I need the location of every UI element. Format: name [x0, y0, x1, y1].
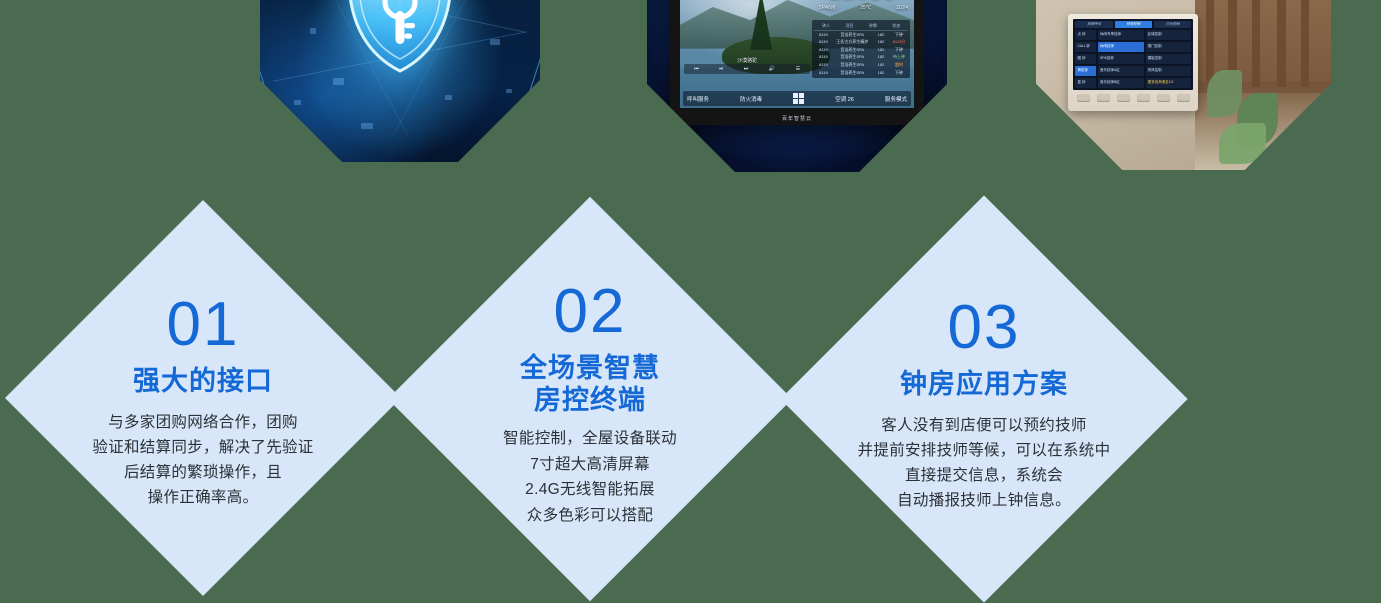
table-row[interactable]: 8119 王氏古方养生精护 182 8115分	[814, 38, 908, 46]
col-tech: 钟人	[814, 22, 837, 30]
panel-option[interactable]: 推门控制	[1146, 42, 1192, 53]
media-volume-icon[interactable]: 🔊	[769, 66, 775, 72]
cell-status: 下钟	[890, 69, 908, 77]
col-card: 钟牌	[861, 22, 884, 30]
dock-call-service[interactable]: 呼叫服务	[687, 94, 709, 102]
media-prev-icon[interactable]: ⏮	[694, 66, 699, 72]
table-row[interactable]: 8119 音浴养生SPA 182 下钟	[814, 69, 908, 77]
cell-card: 182	[872, 61, 890, 69]
cell-tech: 8119	[814, 38, 832, 46]
panel-key[interactable]	[1157, 94, 1170, 102]
image-diamond-tech	[202, 0, 598, 220]
feature-card-01[interactable]: 01 强大的接口 与多家团购网络合作，团购 验证和结算同步，解决了先验证 后结算…	[5, 200, 401, 596]
shield-lock-icon	[325, 0, 475, 89]
panel-option[interactable]: 音乐技师B区	[1098, 78, 1144, 89]
panel-key[interactable]	[1077, 94, 1090, 102]
image-diamond-tablet: CHIBO 沙漠骆驼 ⏮ ⏯ ⏭ 🔊	[585, 0, 1009, 234]
clock-meta: SPA6房 25℃ 11/24	[816, 4, 910, 11]
panel-option-more[interactable]: 更多技师请至1/2	[1146, 78, 1192, 89]
technician-list-table[interactable]: 钟人 项目 钟牌 状态 8119 音浴养生SPA 182 下钟	[812, 20, 910, 78]
diamond-feature-grid: CHIBO 沙漠骆驼 ⏮ ⏯ ⏭ 🔊	[0, 0, 1381, 603]
plant-leaf	[1219, 123, 1266, 164]
cell-status: 待上钟	[890, 53, 908, 61]
tablet-footer-brand: 百年智慧云	[670, 115, 924, 122]
panel-menu-item[interactable]: 换班钟	[1075, 66, 1096, 77]
cell-status: 超时	[890, 61, 908, 69]
dock-fire-safety[interactable]: 防火消毒	[740, 95, 762, 103]
panel-option[interactable]: 模板控制	[1146, 54, 1192, 65]
panel-menu-item[interactable]: 圈 钟	[1075, 54, 1096, 65]
bottom-dock[interactable]: 呼叫服务 防火消毒 空调 26 服务模式	[683, 91, 911, 106]
cell-tech: 8119	[814, 69, 832, 77]
cell-status: 下钟	[890, 46, 908, 54]
panel-tab-2[interactable]: 灯光控制	[1154, 21, 1191, 28]
panel-menu-item[interactable]: 点 钟	[1075, 30, 1096, 41]
cell-tech: 8119	[814, 53, 832, 61]
cell-item: 王氏古方养生精护	[832, 38, 872, 46]
media-next-icon[interactable]: ⏭	[744, 66, 749, 72]
panel-tabs[interactable]: 技师呼叫 钟房控制 灯光控制	[1075, 21, 1191, 28]
panel-menu-item[interactable]: 直 钟	[1075, 78, 1096, 89]
clock-time: 22:35	[816, 0, 910, 2]
temperature-label: 25℃	[860, 4, 871, 10]
clock-widget: 22:35 SPA6房 25℃ 11/24	[816, 0, 910, 11]
card-description: 与多家团购网络合作，团购 验证和结算同步，解决了先验证 后结算的繁琐操作，且 操…	[92, 410, 313, 510]
panel-key[interactable]	[1117, 94, 1130, 102]
card-number: 03	[948, 297, 1021, 359]
panel-body: 点 钟 CALL钟 圈 钟 换班钟 直 钟 休闲专享技师 休闲技师 SPA技师 …	[1075, 30, 1191, 89]
panel-column-a[interactable]: 休闲专享技师 休闲技师 SPA技师 音乐技师A区 音乐技师B区	[1098, 30, 1144, 89]
tablet-device[interactable]: CHIBO 沙漠骆驼 ⏮ ⏯ ⏭ 🔊	[670, 0, 924, 125]
cell-tech: 8119	[814, 61, 832, 69]
media-play-icon[interactable]: ⏯	[719, 66, 723, 72]
card-title: 强大的接口	[133, 366, 273, 398]
media-control-bar[interactable]: ⏮ ⏯ ⏭ 🔊 ☰	[684, 64, 810, 74]
panel-key[interactable]	[1137, 94, 1150, 102]
media-title: 沙漠骆驼	[684, 57, 810, 64]
card-description: 智能控制，全屋设备联动 7寸超大高清屏幕 2.4G无线智能拓展 众多色彩可以搭配	[503, 426, 677, 529]
panel-key[interactable]	[1097, 94, 1110, 102]
card-description: 客人没有到店便可以预约技师 并提前安排技师等候，可以在系统中 直接提交信息，系统…	[858, 413, 1111, 513]
feature-card-02[interactable]: 02 全场景智慧 房控终端 智能控制，全屋设备联动 7寸超大高清屏幕 2.4G无…	[388, 197, 792, 601]
cell-item: 音浴养生SPA	[832, 46, 872, 54]
cell-item: 音浴养生SPA	[832, 61, 872, 69]
col-item: 项目	[838, 22, 861, 30]
panel-option[interactable]: 区域控制	[1146, 30, 1192, 41]
panel-key[interactable]	[1177, 94, 1190, 102]
card-title: 全场景智慧 房控终端	[520, 353, 660, 417]
panel-option[interactable]: SPA技师	[1098, 54, 1144, 65]
date-label: 11/24	[896, 5, 908, 11]
panel-tab-1[interactable]: 钟房控制	[1115, 21, 1152, 28]
table-row[interactable]: 8119 音浴养生SPA 182 超时	[814, 61, 908, 69]
dock-service-mode[interactable]: 服务模式	[885, 95, 907, 103]
cell-tech: 8119	[814, 46, 832, 54]
dock-aircon[interactable]: 空调 26	[835, 94, 854, 102]
cell-card: 182	[872, 53, 890, 61]
card-number: 01	[167, 294, 240, 356]
card-title: 钟房应用方案	[900, 369, 1068, 401]
card-number: 02	[554, 281, 627, 343]
apps-grid-icon[interactable]	[793, 93, 804, 104]
cell-card: 182	[872, 38, 890, 46]
table-row[interactable]: 8119 音浴养生SPA 182 待上钟	[814, 53, 908, 61]
col-status: 状态	[885, 22, 908, 30]
cell-card: 182	[872, 69, 890, 77]
table-row[interactable]: 8119 音浴养生SPA 182 下钟	[814, 46, 908, 54]
tablet-screen[interactable]: 沙漠骆驼 ⏮ ⏯ ⏭ 🔊 ☰ 22:35 SPA6房 2	[680, 0, 914, 108]
panel-screen[interactable]: 技师呼叫 钟房控制 灯光控制 点 钟 CALL钟 圈 钟 换班钟 直 钟	[1073, 19, 1193, 91]
media-list-icon[interactable]: ☰	[796, 66, 800, 72]
panel-option[interactable]: 休闲专享技师	[1098, 30, 1144, 41]
panel-menu-item[interactable]: CALL钟	[1075, 42, 1096, 53]
table-row[interactable]: 8119 音浴养生SPA 182 下钟	[814, 31, 908, 39]
cell-tech: 8119	[814, 31, 832, 39]
cell-card: 182	[872, 31, 890, 39]
cell-status: 8115分	[890, 38, 908, 46]
panel-option[interactable]: 音乐技师A区	[1098, 66, 1144, 77]
panel-option-selected[interactable]: 休闲技师	[1098, 42, 1144, 53]
cell-item: 音浴养生SPA	[832, 53, 872, 61]
feature-card-03[interactable]: 03 钟房应用方案 客人没有到店便可以预约技师 并提前安排技师等候，可以在系统中…	[780, 195, 1187, 602]
room-label: SPA6房	[818, 4, 835, 11]
image-diamond-room: 技师呼叫 钟房控制 灯光控制 点 钟 CALL钟 圈 钟 换班钟 直 钟	[975, 0, 1381, 231]
table-header: 钟人 项目 钟牌 状态	[814, 22, 908, 31]
cell-card: 182	[872, 46, 890, 54]
cell-item: 音浴养生SPA	[832, 69, 872, 77]
panel-left-menu[interactable]: 点 钟 CALL钟 圈 钟 换班钟 直 钟	[1075, 30, 1096, 89]
wall-control-panel[interactable]: 技师呼叫 钟房控制 灯光控制 点 钟 CALL钟 圈 钟 换班钟 直 钟	[1068, 14, 1198, 111]
panel-tab-0[interactable]: 技师呼叫	[1075, 21, 1112, 28]
panel-column-b[interactable]: 区域控制 推门控制 模板控制 采风控制 更多技师请至1/2	[1146, 30, 1192, 89]
cell-item: 音浴养生SPA	[832, 31, 872, 39]
cell-status: 下钟	[890, 31, 908, 39]
panel-option[interactable]: 采风控制	[1146, 66, 1192, 77]
wall-control-panel-photo: 技师呼叫 钟房控制 灯光控制 点 钟 CALL钟 圈 钟 换班钟 直 钟	[1036, 0, 1331, 170]
tech-shield-illustration	[260, 0, 540, 162]
room-control-tablet-scene: CHIBO 沙漠骆驼 ⏮ ⏯ ⏭ 🔊	[647, 0, 947, 172]
panel-hardware-keys[interactable]	[1073, 90, 1193, 106]
